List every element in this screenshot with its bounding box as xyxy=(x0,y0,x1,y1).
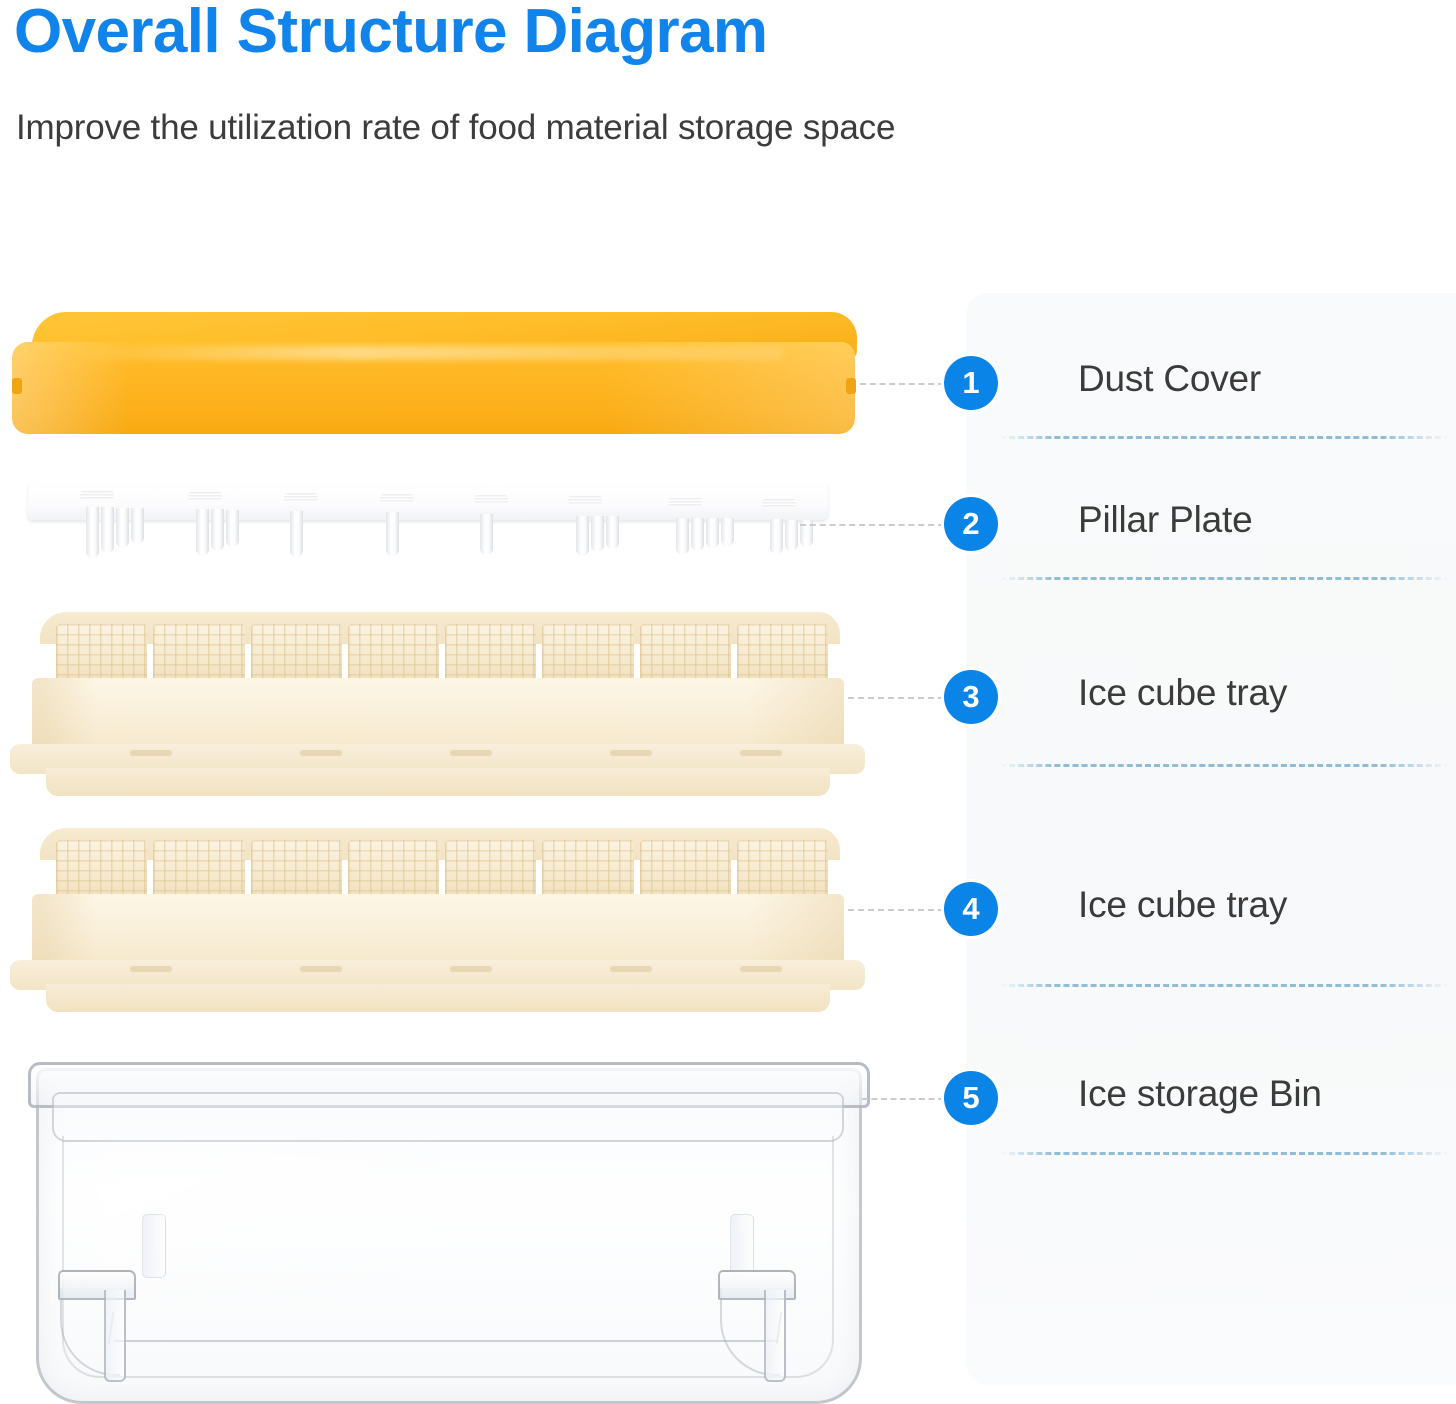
pillar-plate-peg xyxy=(591,516,604,552)
tray-foot xyxy=(46,768,830,796)
legend-separator xyxy=(1000,764,1450,767)
product-ice-cube-tray-lower xyxy=(10,828,865,1018)
pillar-plate-slot xyxy=(762,499,796,507)
tray-notch xyxy=(740,966,782,972)
pillar-plate-slot xyxy=(80,491,114,499)
legend-leader-line xyxy=(848,697,944,699)
pillar-plate-peg xyxy=(706,518,719,548)
legend-label-4: Ice cube tray xyxy=(1078,884,1287,926)
pillar-plate-peg xyxy=(576,516,589,556)
bin-handle-leg xyxy=(104,1290,126,1382)
legend-badge-4[interactable]: 4 xyxy=(944,882,998,936)
dust-cover-highlight xyxy=(64,346,784,360)
bin-left-handle[interactable] xyxy=(58,1270,132,1378)
pillar-plate-peg xyxy=(386,512,399,555)
pillar-plate-peg xyxy=(721,518,734,545)
pillar-plate-peg xyxy=(290,511,303,557)
pillar-plate-peg xyxy=(691,518,704,551)
legend-label-2: Pillar Plate xyxy=(1078,499,1252,541)
tray-notch xyxy=(610,966,652,972)
pillar-plate-slot xyxy=(668,498,702,506)
pillar-plate-peg xyxy=(116,508,129,549)
legend-badge-2[interactable]: 2 xyxy=(944,497,998,551)
pillar-plate-peg xyxy=(676,518,689,555)
pillar-plate-peg xyxy=(226,510,239,547)
pillar-plate-slot xyxy=(568,496,602,504)
pillar-plate-peg xyxy=(606,516,619,548)
tray-notch xyxy=(450,750,492,756)
pillar-plate-peg xyxy=(480,514,493,555)
page-subtitle: Improve the utilization rate of food mat… xyxy=(16,108,895,148)
pillar-plate-slab xyxy=(27,480,828,520)
dust-cover-right-nub xyxy=(846,378,856,394)
tray-notch xyxy=(450,966,492,972)
pillar-plate-peg xyxy=(770,519,783,554)
legend-badge-1[interactable]: 1 xyxy=(944,356,998,410)
bin-inner-rim xyxy=(52,1092,844,1142)
pillar-plate-slot xyxy=(474,495,508,503)
pillar-plate-peg xyxy=(196,509,209,556)
legend-separator xyxy=(1000,577,1450,580)
tray-notch xyxy=(130,750,172,756)
pillar-plate-slot xyxy=(284,493,318,501)
page-title: Overall Structure Diagram xyxy=(14,0,767,67)
legend-separator xyxy=(1000,436,1450,439)
legend-label-1: Dust Cover xyxy=(1078,358,1261,400)
bin-right-handle[interactable] xyxy=(718,1270,792,1378)
tray-notch xyxy=(300,750,342,756)
legend-badge-3[interactable]: 3 xyxy=(944,670,998,724)
product-ice-storage-bin xyxy=(18,1040,874,1399)
legend-separator xyxy=(1000,1152,1450,1155)
product-pillar-plate xyxy=(28,480,838,564)
product-dust-cover xyxy=(12,312,857,436)
pillar-plate-slot xyxy=(188,492,222,500)
bin-left-tab xyxy=(142,1214,166,1278)
legend-leader-line xyxy=(862,1098,944,1100)
pillar-plate-peg xyxy=(86,507,99,558)
pillar-plate-peg xyxy=(211,509,224,551)
dust-cover-left-nub xyxy=(12,378,22,394)
tray-foot xyxy=(46,984,830,1012)
legend-badge-5[interactable]: 5 xyxy=(944,1071,998,1125)
legend-leader-line xyxy=(800,524,944,526)
tray-notch xyxy=(740,750,782,756)
pillar-plate-peg xyxy=(101,507,114,553)
product-ice-cube-tray-upper xyxy=(10,612,865,802)
tray-notch xyxy=(300,966,342,972)
tray-notch xyxy=(610,750,652,756)
legend-label-5: Ice storage Bin xyxy=(1078,1073,1322,1115)
pillar-plate-peg xyxy=(785,520,798,551)
tray-notch xyxy=(130,966,172,972)
pillar-plate-slot xyxy=(380,494,414,502)
legend-label-3: Ice cube tray xyxy=(1078,672,1287,714)
legend-leader-line xyxy=(848,909,944,911)
bin-floor-line xyxy=(114,1340,778,1342)
pillar-plate-peg xyxy=(131,508,144,544)
bin-handle-leg xyxy=(764,1290,786,1382)
legend-separator xyxy=(1000,984,1450,987)
legend-leader-line xyxy=(860,383,944,385)
legend-panel xyxy=(966,293,1456,1385)
bin-right-tab xyxy=(730,1214,754,1278)
